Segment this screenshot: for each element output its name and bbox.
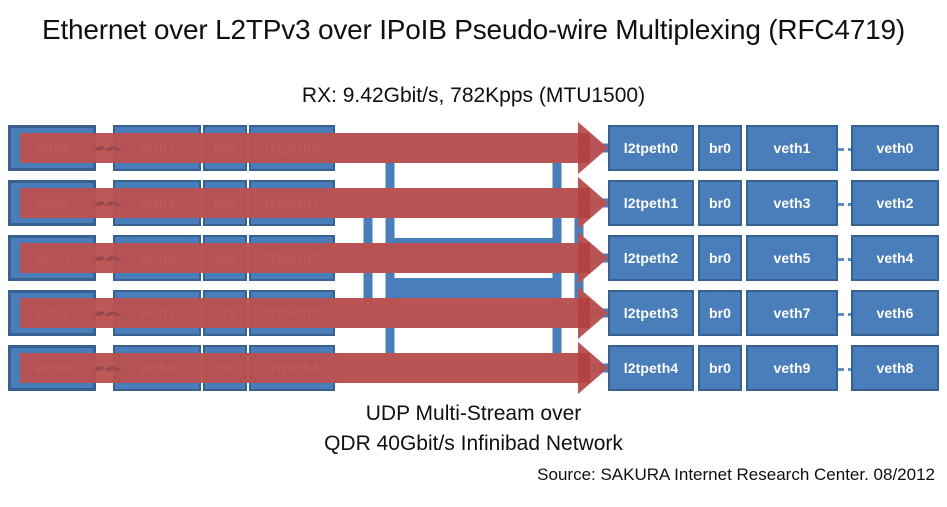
flow-arrow-shaft-row-0	[330, 133, 580, 163]
flow-arrow-head-row-0	[578, 122, 608, 174]
flow-dash-row-3	[95, 313, 121, 316]
flow-arrow-shaft-row-3	[330, 298, 580, 328]
diagram-canvas: Ethernet over L2TPv3 over IPoIB Pseudo-w…	[0, 0, 947, 507]
flow-arrow-shaft-row-1	[330, 188, 580, 218]
flow-arrow-head-row-4	[578, 342, 608, 394]
flow-arrow-head-row-3	[578, 287, 608, 339]
flow-dash-row-0	[95, 148, 121, 151]
flow-dash-row-4	[95, 368, 121, 371]
flow-layer	[0, 0, 947, 507]
flow-arrow-shaft-row-4	[330, 353, 580, 383]
flow-arrow-shaft-row-2	[330, 243, 580, 273]
flow-arrow-head-row-2	[578, 232, 608, 284]
flow-dash-row-1	[95, 203, 121, 206]
flow-dash-row-2	[95, 258, 121, 261]
flow-arrow-head-row-1	[578, 177, 608, 229]
